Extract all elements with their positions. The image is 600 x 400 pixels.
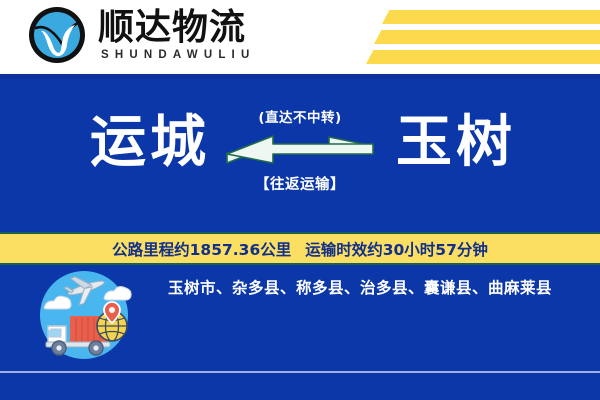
- destination-city: 玉树: [356, 107, 556, 179]
- brand-name-en: SHUNDAWULIU: [98, 48, 255, 62]
- duration-text: 运输时效约30小时57分钟: [305, 238, 488, 260]
- distance-text: 公路里程约1857.36公里: [112, 238, 291, 260]
- double-headed-arrow-icon: [225, 134, 375, 170]
- coverage-section: 玉树市、杂多县、称多县、治多县、囊谦县、曲麻莱县: [0, 265, 600, 400]
- route-section: 运城 (直达不中转) 【往返运输】 玉树: [0, 79, 600, 232]
- origin-city: 运城: [50, 107, 250, 179]
- brand-text: 顺达物流 SHUNDAWULIU: [98, 8, 255, 62]
- truck-plane-globe-icon: [28, 270, 140, 360]
- stripe-1: [382, 10, 600, 24]
- coverage-areas: 玉树市、杂多县、称多县、治多县、囊谦县、曲麻莱县: [140, 277, 580, 299]
- route-middle: (直达不中转) 【往返运输】: [225, 109, 375, 209]
- info-bar: 公路里程约1857.36公里 运输时效约30小时57分钟: [0, 232, 600, 265]
- logistics-banner: 顺达物流 SHUNDAWULIU 运城 (直达不中转) 【往返运输】 玉树: [0, 0, 600, 400]
- banner-header: 顺达物流 SHUNDAWULIU: [0, 0, 600, 74]
- direct-note: (直达不中转): [225, 109, 375, 127]
- brand-name-cn: 顺达物流: [98, 8, 255, 48]
- stripe-2: [374, 30, 600, 44]
- bottom-divider: [0, 371, 600, 373]
- roundtrip-note: 【往返运输】: [225, 175, 375, 195]
- brand-logo: 顺达物流 SHUNDAWULIU: [26, 4, 255, 66]
- header-stripes: [300, 0, 600, 74]
- circle-swoosh-logo-icon: [26, 4, 88, 66]
- stripe-3: [366, 50, 600, 64]
